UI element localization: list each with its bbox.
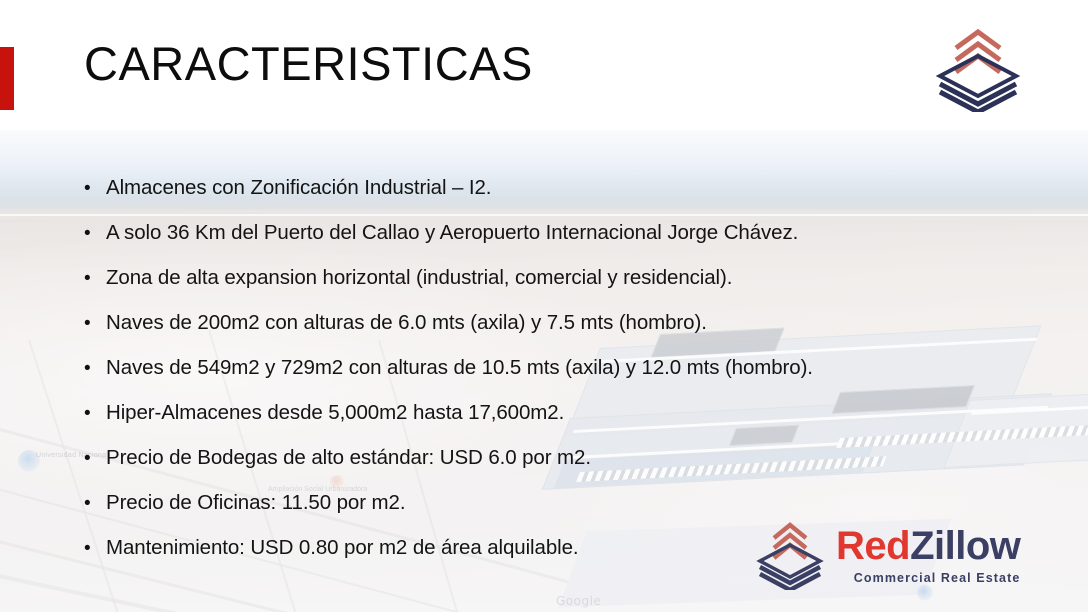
list-item-label: Mantenimiento: USD 0.80 por m2 de área a… (106, 536, 578, 560)
list-item: • A solo 36 Km del Puerto del Callao y A… (84, 221, 798, 245)
list-item-label: Precio de Oficinas: 11.50 por m2. (106, 491, 405, 515)
bullet-marker-icon: • (84, 224, 106, 243)
list-item: • Precio de Bodegas de alto estándar: US… (84, 446, 591, 470)
list-item-label: A solo 36 Km del Puerto del Callao y Aer… (106, 221, 798, 245)
brand-name-red: Red (836, 524, 910, 568)
bullet-marker-icon: • (84, 449, 106, 468)
stacked-chevron-diamond-icon (930, 26, 1026, 112)
list-item: • Mantenimiento: USD 0.80 por m2 de área… (84, 536, 578, 560)
bullet-marker-icon: • (84, 404, 106, 423)
list-item-label: Hiper-Almacenes desde 5,000m2 hasta 17,6… (106, 401, 564, 425)
brand-name: RedZillow (836, 526, 1020, 566)
brand-wordmark: RedZillow Commercial Real Estate (836, 526, 1020, 585)
list-item-label: Precio de Bodegas de alto estándar: USD … (106, 446, 591, 470)
brand-name-navy: Zillow (910, 524, 1020, 568)
list-item-label: Zona de alta expansion horizontal (indus… (106, 266, 732, 290)
list-item: • Hiper-Almacenes desde 5,000m2 hasta 17… (84, 401, 564, 425)
bullet-marker-icon: • (84, 494, 106, 513)
bullet-marker-icon: • (84, 359, 106, 378)
redzillow-brand-lockup: RedZillow Commercial Real Estate (752, 516, 1042, 594)
list-item: • Naves de 549m2 y 729m2 con alturas de … (84, 356, 813, 380)
stacked-chevron-diamond-icon (752, 520, 828, 590)
list-item: • Precio de Oficinas: 11.50 por m2. (84, 491, 405, 515)
list-item-label: Naves de 200m2 con alturas de 6.0 mts (a… (106, 311, 707, 335)
slide-canvas: Universidad Nacional Ampliación Social U… (0, 0, 1088, 612)
page-title: CARACTERISTICAS (84, 40, 533, 87)
list-item-label: Almacenes con Zonificación Industrial – … (106, 176, 491, 200)
list-item: • Naves de 200m2 con alturas de 6.0 mts … (84, 311, 707, 335)
slide-header: CARACTERISTICAS (0, 0, 1088, 130)
list-item: • Zona de alta expansion horizontal (ind… (84, 266, 732, 290)
brand-tagline: Commercial Real Estate (836, 571, 1020, 585)
header-accent-bar (0, 47, 14, 110)
bullet-marker-icon: • (84, 269, 106, 288)
list-item-label: Naves de 549m2 y 729m2 con alturas de 10… (106, 356, 813, 380)
bullet-marker-icon: • (84, 179, 106, 198)
bullet-marker-icon: • (84, 314, 106, 333)
bullet-marker-icon: • (84, 539, 106, 558)
redzillow-logo-mark (930, 26, 1026, 112)
brand-logo-mark (752, 520, 828, 590)
list-item: • Almacenes con Zonificación Industrial … (84, 176, 491, 200)
